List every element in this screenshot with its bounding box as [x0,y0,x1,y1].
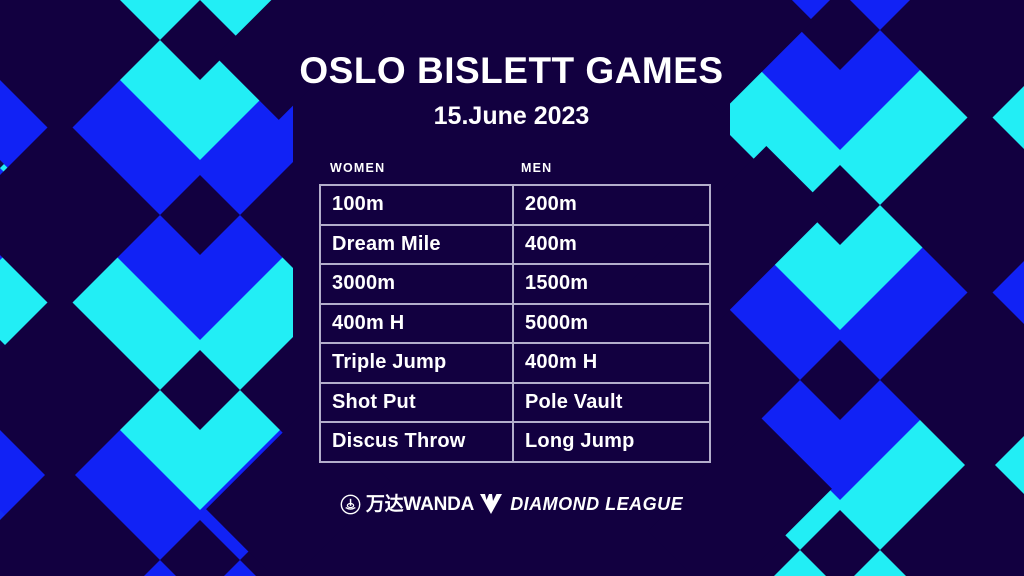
cell-women-event: 3000m [320,264,513,304]
cell-men-event: 400m H [513,343,710,383]
wanda-circle-icon [340,494,361,515]
sponsor-logo-lockup: 万达WANDA DIAMOND LEAGUE [293,492,730,516]
event-title: OSLO BISLETT GAMES [293,52,730,89]
cell-women-event: 400m H [320,304,513,344]
league-name: DIAMOND LEAGUE [510,495,683,513]
column-header-men: MEN [521,161,552,175]
cell-men-event: 400m [513,225,710,265]
column-header-women: WOMEN [330,161,385,175]
sponsor-name: 万达WANDA [366,495,474,514]
cell-men-event: Pole Vault [513,383,710,423]
table-row: 400m H 5000m [320,304,710,344]
cell-men-event: Long Jump [513,422,710,462]
cell-women-event: Shot Put [320,383,513,423]
cell-men-event: 5000m [513,304,710,344]
poster-content: OSLO BISLETT GAMES 15.June 2023 WOMEN ME… [293,0,730,576]
cell-women-event: Dream Mile [320,225,513,265]
cell-women-event: Triple Jump [320,343,513,383]
cell-men-event: 200m [513,185,710,225]
cell-women-event: 100m [320,185,513,225]
cell-men-event: 1500m [513,264,710,304]
table-row: Discus Throw Long Jump [320,422,710,462]
table-row: Shot Put Pole Vault [320,383,710,423]
table-row: Dream Mile 400m [320,225,710,265]
schedule-table: 100m 200m Dream Mile 400m 3000m 1500m 40… [319,184,711,463]
poster-canvas: OSLO BISLETT GAMES 15.June 2023 WOMEN ME… [0,0,1024,576]
table-row: 3000m 1500m [320,264,710,304]
table-row: Triple Jump 400m H [320,343,710,383]
table-row: 100m 200m [320,185,710,225]
event-date: 15.June 2023 [293,104,730,129]
diamond-icon [476,492,506,516]
cell-women-event: Discus Throw [320,422,513,462]
